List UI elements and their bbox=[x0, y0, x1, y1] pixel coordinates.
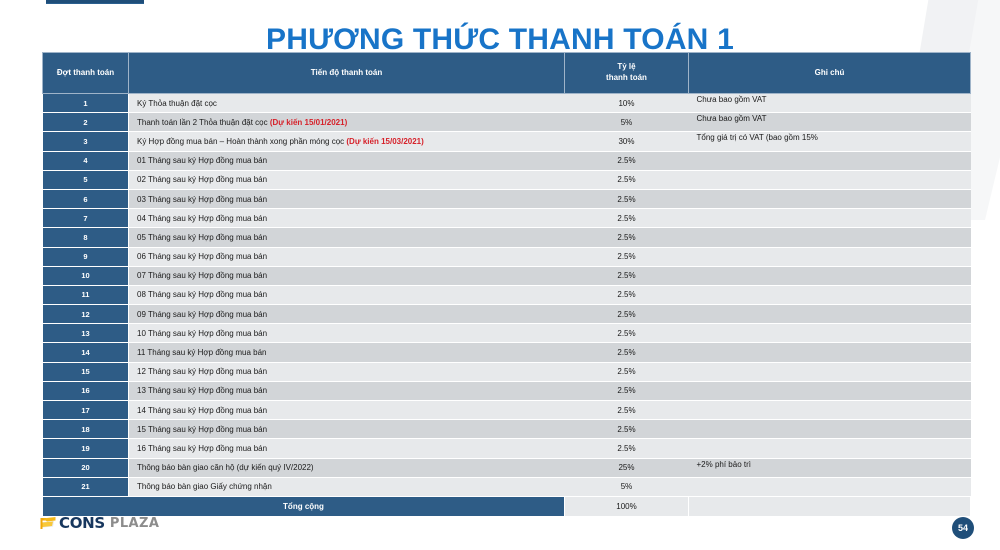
cell-description: 09 Tháng sau ký Hợp đồng mua bán bbox=[129, 305, 565, 324]
cell-note bbox=[689, 266, 971, 285]
cell-note bbox=[689, 209, 971, 228]
column-header-stage: Đợt thanh toán bbox=[43, 53, 129, 94]
table-row: 502 Tháng sau ký Hợp đồng mua bán2.5% bbox=[43, 170, 971, 189]
cell-note bbox=[689, 343, 971, 362]
table-row: 1512 Tháng sau ký Hợp đồng mua bán2.5% bbox=[43, 362, 971, 381]
total-rate: 100% bbox=[565, 496, 689, 516]
cell-stage: 9 bbox=[43, 247, 129, 266]
cell-rate: 2.5% bbox=[565, 362, 689, 381]
table-header-row: Đợt thanh toán Tiến độ thanh toán Tỷ lệ … bbox=[43, 53, 971, 94]
table-body: 1Ký Thỏa thuận đặt cọc10%Chưa bao gồm VA… bbox=[43, 94, 971, 517]
cell-rate: 2.5% bbox=[565, 324, 689, 343]
cell-note bbox=[689, 401, 971, 420]
cell-stage: 21 bbox=[43, 477, 129, 496]
table-row: 1209 Tháng sau ký Hợp đồng mua bán2.5% bbox=[43, 305, 971, 324]
page-number-badge: 54 bbox=[952, 517, 974, 539]
cell-stage: 10 bbox=[43, 266, 129, 285]
cell-rate: 2.5% bbox=[565, 209, 689, 228]
cell-note bbox=[689, 189, 971, 208]
cell-description: 05 Tháng sau ký Hợp đồng mua bán bbox=[129, 228, 565, 247]
cell-rate: 2.5% bbox=[565, 420, 689, 439]
cell-description: 03 Tháng sau ký Hợp đồng mua bán bbox=[129, 189, 565, 208]
column-header-rate-line2: thanh toán bbox=[566, 73, 687, 84]
cell-stage: 11 bbox=[43, 285, 129, 304]
cell-stage: 13 bbox=[43, 324, 129, 343]
cell-stage: 17 bbox=[43, 401, 129, 420]
cell-description: 07 Tháng sau ký Hợp đồng mua bán bbox=[129, 266, 565, 285]
cell-description: 11 Tháng sau ký Hợp đồng mua bán bbox=[129, 343, 565, 362]
cell-rate: 2.5% bbox=[565, 285, 689, 304]
cell-rate: 2.5% bbox=[565, 439, 689, 458]
cell-note bbox=[689, 362, 971, 381]
cell-description: 04 Tháng sau ký Hợp đồng mua bán bbox=[129, 209, 565, 228]
table-row: 1815 Tháng sau ký Hợp đồng mua bán2.5% bbox=[43, 420, 971, 439]
cell-rate: 2.5% bbox=[565, 266, 689, 285]
cell-description: Thông báo bàn giao căn hộ (dự kiến quý I… bbox=[129, 458, 565, 477]
cell-rate: 2.5% bbox=[565, 170, 689, 189]
cell-description: 16 Tháng sau ký Hợp đồng mua bán bbox=[129, 439, 565, 458]
cell-note: +2% phí bảo trì bbox=[689, 458, 971, 477]
cell-stage: 1 bbox=[43, 94, 129, 113]
table-row: 1108 Tháng sau ký Hợp đồng mua bán2.5% bbox=[43, 285, 971, 304]
cell-note bbox=[689, 324, 971, 343]
cell-description: 06 Tháng sau ký Hợp đồng mua bán bbox=[129, 247, 565, 266]
total-note bbox=[689, 496, 971, 516]
cell-stage: 8 bbox=[43, 228, 129, 247]
column-header-rate-line1: Tỷ lệ bbox=[566, 62, 687, 73]
table-total-row: Tổng cộng100% bbox=[43, 496, 971, 516]
cell-note bbox=[689, 285, 971, 304]
table-row: 1007 Tháng sau ký Hợp đồng mua bán2.5% bbox=[43, 266, 971, 285]
cell-description: 13 Tháng sau ký Hợp đồng mua bán bbox=[129, 381, 565, 400]
cell-rate: 2.5% bbox=[565, 381, 689, 400]
table-row: 1Ký Thỏa thuận đặt cọc10%Chưa bao gồm VA… bbox=[43, 94, 971, 113]
cell-description: 12 Tháng sau ký Hợp đồng mua bán bbox=[129, 362, 565, 381]
table-row: 1916 Tháng sau ký Hợp đồng mua bán2.5% bbox=[43, 439, 971, 458]
cell-rate: 25% bbox=[565, 458, 689, 477]
cell-note bbox=[689, 420, 971, 439]
cell-stage: 16 bbox=[43, 381, 129, 400]
cell-description: Ký Hợp đồng mua bán – Hoàn thành xong ph… bbox=[129, 132, 565, 151]
cell-description: 02 Tháng sau ký Hợp đồng mua bán bbox=[129, 170, 565, 189]
cell-description-highlight: (Dự kiến 15/01/2021) bbox=[270, 118, 347, 127]
cell-rate: 5% bbox=[565, 113, 689, 132]
top-accent-bar bbox=[46, 0, 144, 4]
cell-description: Thanh toán lần 2 Thỏa thuận đặt cọc (Dự … bbox=[129, 113, 565, 132]
table-row: 401 Tháng sau ký Hợp đồng mua bán2.5% bbox=[43, 151, 971, 170]
cell-rate: 5% bbox=[565, 477, 689, 496]
cell-description: 14 Tháng sau ký Hợp đồng mua bán bbox=[129, 401, 565, 420]
cell-rate: 2.5% bbox=[565, 305, 689, 324]
table-row: 3Ký Hợp đồng mua bán – Hoàn thành xong p… bbox=[43, 132, 971, 151]
cell-description: Ký Thỏa thuận đặt cọc bbox=[129, 94, 565, 113]
table-row: 805 Tháng sau ký Hợp đồng mua bán2.5% bbox=[43, 228, 971, 247]
cell-description: Thông báo bàn giao Giấy chứng nhận bbox=[129, 477, 565, 496]
table-row: 20Thông báo bàn giao căn hộ (dự kiến quý… bbox=[43, 458, 971, 477]
cell-stage: 15 bbox=[43, 362, 129, 381]
table-row: 1714 Tháng sau ký Hợp đồng mua bán2.5% bbox=[43, 401, 971, 420]
cell-note bbox=[689, 381, 971, 400]
cell-stage: 12 bbox=[43, 305, 129, 324]
cell-stage: 18 bbox=[43, 420, 129, 439]
cell-rate: 2.5% bbox=[565, 343, 689, 362]
cell-rate: 30% bbox=[565, 132, 689, 151]
cell-stage: 4 bbox=[43, 151, 129, 170]
table-row: 1613 Tháng sau ký Hợp đồng mua bán2.5% bbox=[43, 381, 971, 400]
cell-rate: 2.5% bbox=[565, 189, 689, 208]
cell-stage: 3 bbox=[43, 132, 129, 151]
cell-rate: 2.5% bbox=[565, 151, 689, 170]
cell-note bbox=[689, 305, 971, 324]
cell-note: Chưa bao gồm VAT bbox=[689, 94, 971, 113]
bcons-plaza-logo: CONS PLAZA bbox=[40, 514, 159, 532]
cell-note bbox=[689, 439, 971, 458]
column-header-note: Ghi chú bbox=[689, 53, 971, 94]
cell-description: 08 Tháng sau ký Hợp đồng mua bán bbox=[129, 285, 565, 304]
logo-secondary-text: PLAZA bbox=[110, 516, 159, 531]
table-row: 603 Tháng sau ký Hợp đồng mua bán2.5% bbox=[43, 189, 971, 208]
table-row: 21Thông báo bàn giao Giấy chứng nhận5% bbox=[43, 477, 971, 496]
cell-description-highlight: (Dự kiến 15/03/2021) bbox=[346, 137, 423, 146]
cell-note: Tổng giá trị có VAT (bao gồm 15% bbox=[689, 132, 971, 151]
cell-stage: 2 bbox=[43, 113, 129, 132]
column-header-description: Tiến độ thanh toán bbox=[129, 53, 565, 94]
cell-note bbox=[689, 477, 971, 496]
cell-note bbox=[689, 170, 971, 189]
table-row: 2Thanh toán lần 2 Thỏa thuận đặt cọc (Dự… bbox=[43, 113, 971, 132]
table-row: 704 Tháng sau ký Hợp đồng mua bán2.5% bbox=[43, 209, 971, 228]
cell-note: Chưa bao gồm VAT bbox=[689, 113, 971, 132]
cell-note bbox=[689, 247, 971, 266]
payment-schedule-table: Đợt thanh toán Tiến độ thanh toán Tỷ lệ … bbox=[42, 52, 971, 517]
cell-rate: 2.5% bbox=[565, 401, 689, 420]
cell-note bbox=[689, 151, 971, 170]
logo-primary-text: CONS bbox=[59, 514, 105, 532]
cell-stage: 14 bbox=[43, 343, 129, 362]
cell-stage: 5 bbox=[43, 170, 129, 189]
cell-description: 15 Tháng sau ký Hợp đồng mua bán bbox=[129, 420, 565, 439]
table-row: 906 Tháng sau ký Hợp đồng mua bán2.5% bbox=[43, 247, 971, 266]
bcons-mark-icon bbox=[40, 516, 57, 531]
cell-rate: 2.5% bbox=[565, 228, 689, 247]
cell-stage: 6 bbox=[43, 189, 129, 208]
cell-rate: 10% bbox=[565, 94, 689, 113]
table-row: 1310 Tháng sau ký Hợp đồng mua bán2.5% bbox=[43, 324, 971, 343]
cell-stage: 19 bbox=[43, 439, 129, 458]
cell-stage: 7 bbox=[43, 209, 129, 228]
cell-description: 01 Tháng sau ký Hợp đồng mua bán bbox=[129, 151, 565, 170]
cell-rate: 2.5% bbox=[565, 247, 689, 266]
cell-description: 10 Tháng sau ký Hợp đồng mua bán bbox=[129, 324, 565, 343]
table-row: 1411 Tháng sau ký Hợp đồng mua bán2.5% bbox=[43, 343, 971, 362]
column-header-rate: Tỷ lệ thanh toán bbox=[565, 53, 689, 94]
cell-note bbox=[689, 228, 971, 247]
payment-schedule-table-wrapper: Đợt thanh toán Tiến độ thanh toán Tỷ lệ … bbox=[42, 52, 970, 517]
cell-stage: 20 bbox=[43, 458, 129, 477]
